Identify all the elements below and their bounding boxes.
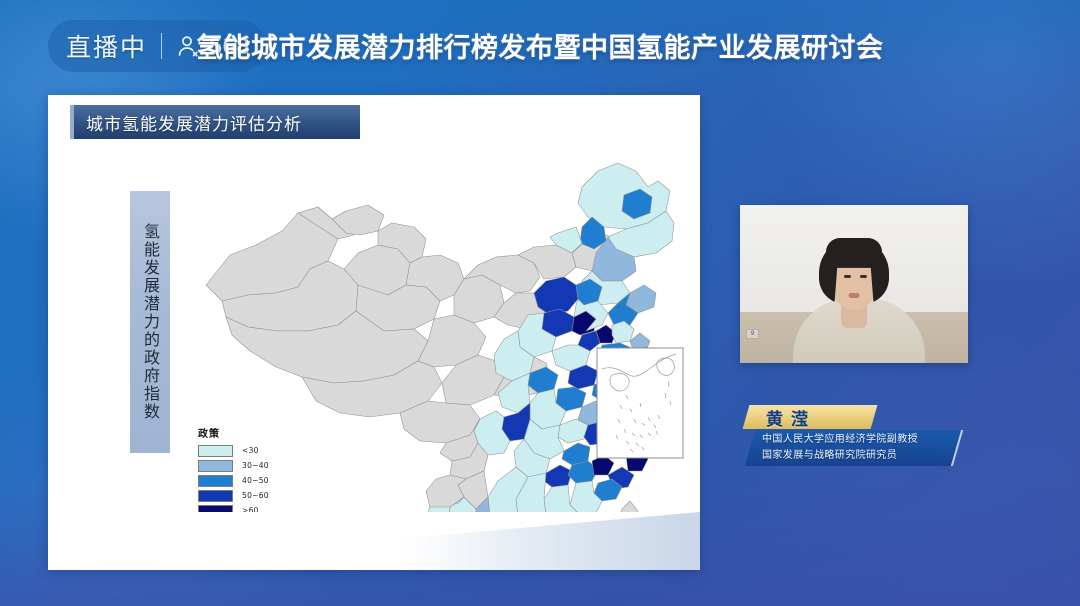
speaker-fringe — [826, 238, 882, 260]
live-status-label: 直播中 — [66, 28, 147, 64]
legend-label: 30~40 — [242, 461, 269, 470]
legend-label: <30 — [242, 446, 259, 455]
legend-item: 40~50 — [198, 474, 318, 487]
vertical-axis-label: 氢能发展潜力的政府指数 — [140, 223, 160, 421]
vertical-axis-label-box: 氢能发展潜力的政府指数 — [130, 191, 170, 453]
legend-swatch — [198, 445, 233, 457]
legend-swatch — [198, 490, 233, 502]
legend-swatch — [198, 475, 233, 487]
event-title: 氢能城市发展潜力排行榜发布暨中国氢能产业发展研讨会 — [196, 26, 1076, 72]
speaker-mouth — [849, 293, 860, 298]
speaker-title-line-1: 中国人民大学应用经济学院副教授 — [762, 432, 952, 448]
speaker-eye-left — [844, 275, 851, 278]
slide-bottom-wedge — [48, 512, 700, 570]
slide-title: 城市氢能发展潜力评估分析 — [86, 110, 302, 135]
speaker-title-block: 中国人民大学应用经济学院副教授 国家发展与战略研究院研究员 — [762, 432, 952, 464]
speaker-name: 黄滢 — [766, 406, 876, 428]
legend-title: 政策 — [198, 425, 318, 440]
presentation-slide: 城市氢能发展潜力评估分析 氢能发展潜力的政府指数 — [48, 95, 700, 570]
legend-label: 50~60 — [242, 491, 269, 500]
speaker-title-line-2: 国家发展与战略研究院研究员 — [762, 448, 952, 464]
speaker-name-card: 黄滢 中国人民大学应用经济学院副教授 国家发展与战略研究院研究员 — [738, 405, 960, 467]
live-stream-stage: 直播中 568 氢能城市发展潜力排行榜发布暨中国氢能产业发展研讨会 城市氢能发展… — [0, 0, 1080, 606]
legend-item: 30~40 — [198, 459, 318, 472]
speaker-eye-right — [860, 275, 867, 278]
south-china-sea-inset — [596, 347, 684, 459]
legend-label: 40~50 — [242, 476, 269, 485]
legend-item: 50~60 — [198, 489, 318, 502]
speaker-video-feed[interactable]: 9 — [740, 205, 968, 363]
top-bar: 直播中 568 氢能城市发展潜力排行榜发布暨中国氢能产业发展研讨会 — [0, 0, 1080, 92]
divider — [161, 33, 162, 59]
legend-swatch — [198, 460, 233, 472]
video-corner-badge: 9 — [746, 329, 759, 339]
legend-item: <30 — [198, 444, 318, 457]
slide-header-banner: 城市氢能发展潜力评估分析 — [70, 105, 360, 139]
